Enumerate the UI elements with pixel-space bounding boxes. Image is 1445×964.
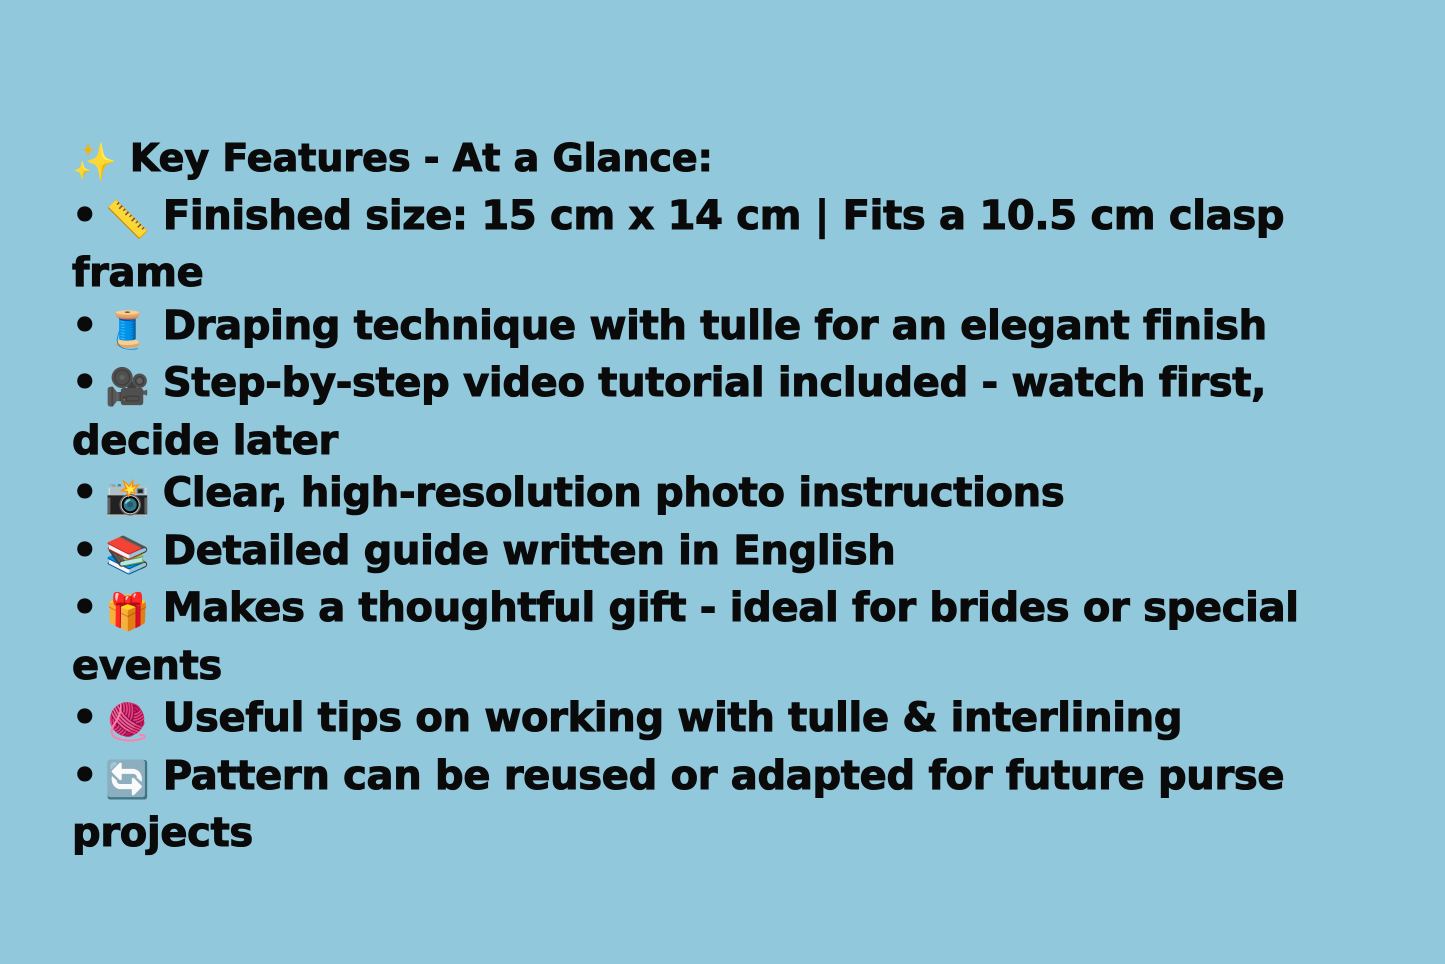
feature-list: •📏Finished size: 15 cm x 14 cm | Fits a … bbox=[72, 190, 1405, 860]
list-item: •📸Clear, high-resolution photo instructi… bbox=[72, 467, 1405, 525]
thread-spool-icon: 🧵 bbox=[105, 305, 150, 358]
list-item-text: Clear, high-resolution photo instruction… bbox=[163, 470, 1065, 516]
ruler-icon: 📏 bbox=[105, 195, 150, 248]
bullet-marker: • bbox=[72, 695, 97, 741]
list-item-text: Detailed guide written in English bbox=[163, 528, 896, 574]
gift-icon: 🎁 bbox=[105, 587, 150, 640]
bullet-marker: • bbox=[72, 193, 97, 239]
list-item-text: Useful tips on working with tulle & inte… bbox=[163, 695, 1182, 741]
list-item: •📏Finished size: 15 cm x 14 cm | Fits a … bbox=[72, 190, 1405, 300]
sparkles-icon: ✨ bbox=[72, 137, 117, 190]
bullet-marker: • bbox=[72, 585, 97, 631]
list-item: •🔄Pattern can be reused or adapted for f… bbox=[72, 750, 1405, 860]
list-item: •🎁Makes a thoughtful gift - ideal for br… bbox=[72, 582, 1405, 692]
camera-flash-icon: 📸 bbox=[105, 472, 150, 525]
list-item: •🎥Step-by-step video tutorial included -… bbox=[72, 357, 1405, 467]
yarn-ball-icon: 🧶 bbox=[105, 697, 150, 750]
page-title-text: Key Features - At a Glance: bbox=[130, 136, 713, 180]
bullet-marker: • bbox=[72, 753, 97, 799]
movie-camera-icon: 🎥 bbox=[105, 362, 150, 415]
list-item-text: Pattern can be reused or adapted for fut… bbox=[72, 753, 1284, 857]
list-item-text: Makes a thoughtful gift - ideal for brid… bbox=[72, 585, 1299, 689]
list-item-text: Step-by-step video tutorial included - w… bbox=[72, 360, 1266, 464]
bullet-marker: • bbox=[72, 528, 97, 574]
features-page: ✨Key Features - At a Glance: •📏Finished … bbox=[0, 0, 1445, 964]
list-item: •📚Detailed guide written in English bbox=[72, 525, 1405, 583]
page-title: ✨Key Features - At a Glance: bbox=[72, 132, 1405, 190]
list-item: •🧶Useful tips on working with tulle & in… bbox=[72, 692, 1405, 750]
list-item-text: Finished size: 15 cm x 14 cm | Fits a 10… bbox=[72, 193, 1284, 297]
list-item: •🧵Draping technique with tulle for an el… bbox=[72, 300, 1405, 358]
bullet-marker: • bbox=[72, 303, 97, 349]
bullet-marker: • bbox=[72, 470, 97, 516]
bullet-marker: • bbox=[72, 360, 97, 406]
books-icon: 📚 bbox=[105, 530, 150, 583]
list-item-text: Draping technique with tulle for an eleg… bbox=[163, 303, 1267, 349]
repeat-arrows-icon: 🔄 bbox=[105, 755, 150, 808]
